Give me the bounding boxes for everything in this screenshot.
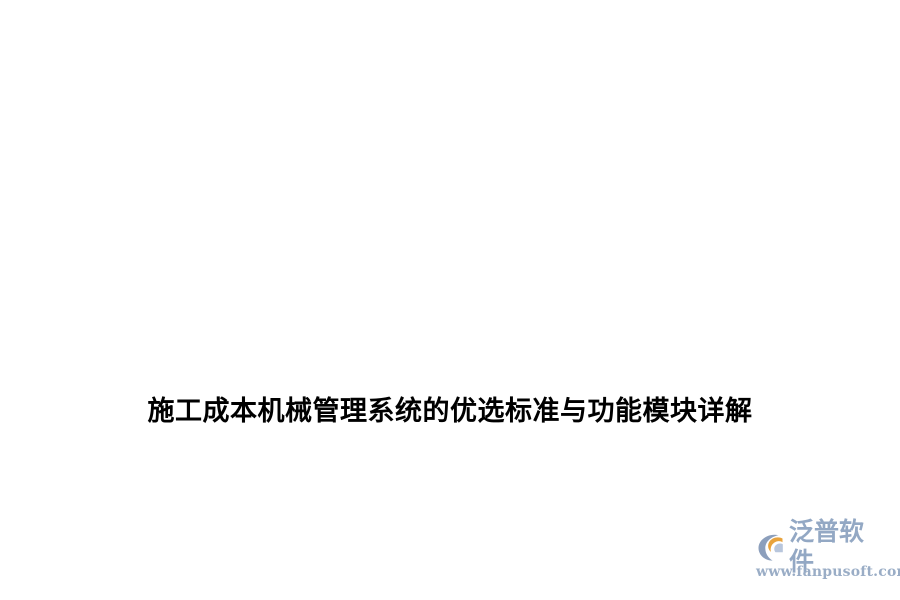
logo-wedge bbox=[774, 543, 783, 552]
ascending-arrow-infographic bbox=[300, 40, 600, 340]
page-canvas: 施工成本机械管理系统的优选标准与功能模块详解 泛普软件 www.fanpusof… bbox=[0, 0, 900, 600]
page-title: 施工成本机械管理系统的优选标准与功能模块详解 bbox=[0, 392, 900, 432]
brand-url: www.fanpusoft.com bbox=[756, 563, 888, 581]
brand-watermark: 泛普软件 www.fanpusoft.com bbox=[756, 530, 888, 586]
brand-row: 泛普软件 bbox=[756, 530, 888, 564]
fanpu-swoosh-logo-icon bbox=[756, 532, 786, 562]
